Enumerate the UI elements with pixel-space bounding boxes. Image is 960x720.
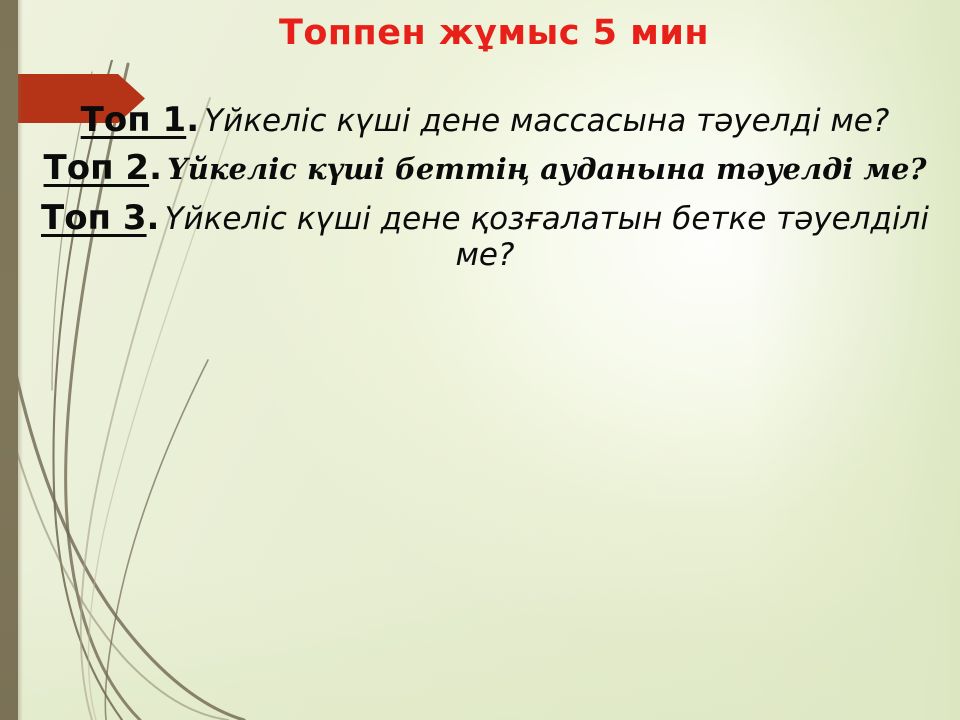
group-separator-2: . [149,148,162,188]
question-text-1: Үйкеліс күші дене массасына тәуелді ме? [204,103,889,139]
question-row-1: Топ 1. Үйкеліс күші дене массасына тәуел… [22,100,948,140]
question-text-2: Үйкеліс күші беттің ауданына тәуелді ме? [167,152,926,186]
questions-list: Топ 1. Үйкеліс күші дене массасына тәуел… [22,100,948,275]
background-bottom-shade [0,570,960,720]
group-separator-1: . [186,100,199,140]
slide-canvas: Топпен жұмыс 5 мин Топ 1. Үйкеліс күші д… [0,0,960,720]
group-label-3: Топ 3 [41,198,147,238]
question-text-3: Үйкеліс күші дене қозғалатын бетке тәуел… [165,201,929,273]
question-row-3: Топ 3. Үйкеліс күші дене қозғалатын бетк… [22,198,948,273]
question-row-2: Топ 2. Үйкеліс күші беттің ауданына тәуе… [22,148,948,188]
group-label-2: Топ 2 [44,148,150,188]
page-title: Топпен жұмыс 5 мин [0,16,960,51]
group-separator-3: . [147,198,160,238]
group-label-1: Топ 1 [81,100,187,140]
left-accent-band [0,0,18,720]
